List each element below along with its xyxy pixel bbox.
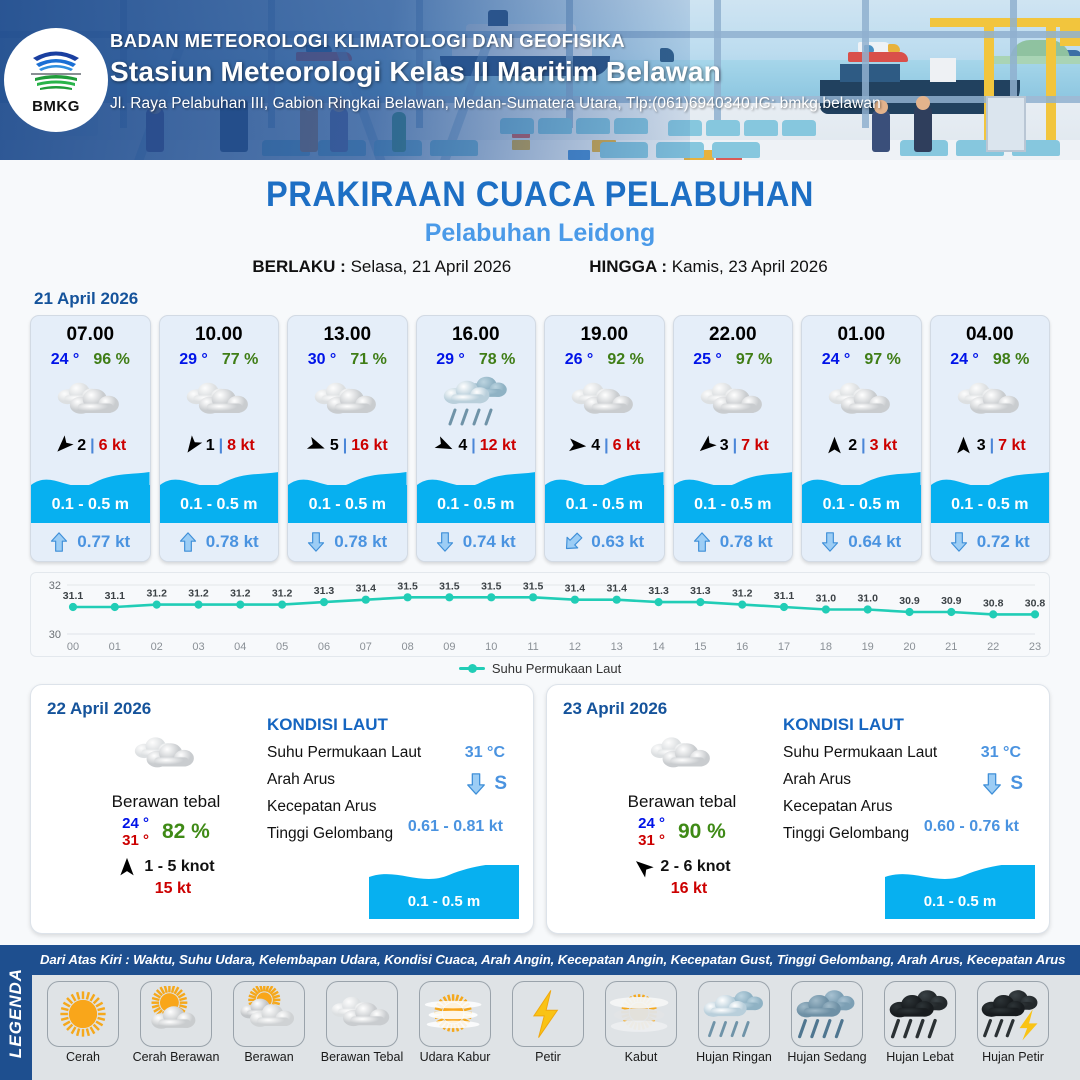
current-row: 0.77 kt bbox=[31, 523, 150, 561]
summary-humidity: 82 % bbox=[162, 820, 210, 844]
wave-height-row: Tinggi Gelombang bbox=[783, 825, 1035, 843]
hourly-forecast-card: 19.00 26 ° 92 % 4 | 6 kt 0.1 - 0.5 m bbox=[544, 315, 665, 562]
legend-icon-row: Cerah Cerah Berawan Berawan Berawan Teba… bbox=[32, 975, 1080, 1080]
svg-text:31.5: 31.5 bbox=[397, 580, 418, 592]
wave-height: 0.1 - 0.5 m bbox=[288, 496, 407, 514]
berawan-tebal-icon bbox=[329, 986, 395, 1042]
sst-value: 31 °C bbox=[981, 744, 1021, 762]
sst-row: Suhu Permukaan Laut 31 °C bbox=[783, 744, 1035, 762]
summary-wind-row: 2 - 6 knot bbox=[587, 857, 777, 877]
svg-text:31.1: 31.1 bbox=[105, 590, 126, 602]
gust-speed: 6 kt bbox=[613, 437, 641, 455]
wave-shape bbox=[417, 471, 536, 497]
summary-wave-value: 0.1 - 0.5 m bbox=[369, 893, 519, 910]
legend-item-label: Cerah bbox=[38, 1050, 128, 1064]
humidity: 97 % bbox=[864, 351, 900, 369]
berawan-tebal-icon bbox=[53, 372, 127, 430]
agency-name: BADAN METEOROLOGI KLIMATOLOGI DAN GEOFIS… bbox=[110, 30, 1060, 52]
svg-text:14: 14 bbox=[652, 641, 664, 653]
humidity: 97 % bbox=[736, 351, 772, 369]
hourly-forecast-card: 04.00 24 ° 98 % 3 | 7 kt 0.1 - 0.5 m bbox=[930, 315, 1051, 562]
current-direction-value: S bbox=[494, 773, 507, 795]
wave-shape bbox=[674, 471, 793, 497]
air-temperature: 24 ° bbox=[822, 351, 851, 369]
berawan-tebal-icon bbox=[824, 372, 898, 430]
legend-item: Hujan Sedang bbox=[782, 981, 872, 1064]
svg-text:31.4: 31.4 bbox=[565, 583, 586, 595]
summary-wave-block: 0.1 - 0.5 m bbox=[369, 865, 519, 919]
svg-text:31.5: 31.5 bbox=[481, 580, 502, 592]
wind-direction-arrow-icon bbox=[117, 857, 137, 877]
forecast-time: 07.00 bbox=[31, 316, 150, 346]
hourly-forecast-card: 22.00 25 ° 97 % 3 | 7 kt 0.1 - 0.5 m bbox=[673, 315, 794, 562]
wave-height-block: 0.1 - 0.5 m bbox=[417, 461, 536, 523]
page-header: BMKG BADAN METEOROLOGI KLIMATOLOGI DAN G… bbox=[0, 0, 1080, 160]
svg-text:18: 18 bbox=[820, 641, 832, 653]
legend-item: Hujan Petir bbox=[968, 981, 1058, 1064]
legend-item-label: Berawan bbox=[224, 1050, 314, 1064]
svg-text:30.8: 30.8 bbox=[1025, 597, 1046, 609]
sst-label: Suhu Permukaan Laut bbox=[783, 744, 937, 761]
humidity: 71 % bbox=[350, 351, 386, 369]
valid-until: HINGGA : Kamis, 23 April 2026 bbox=[589, 257, 827, 277]
forecast-time: 22.00 bbox=[674, 316, 793, 346]
wind-separator: | bbox=[861, 437, 865, 455]
wave-shape bbox=[369, 865, 519, 887]
hourly-day-label: 21 April 2026 bbox=[34, 289, 1080, 309]
weather-condition-icon bbox=[160, 372, 279, 430]
wave-height: 0.1 - 0.5 m bbox=[31, 496, 150, 514]
humidity: 77 % bbox=[222, 351, 258, 369]
current-speed-label: Kecepatan Arus bbox=[267, 798, 376, 815]
weather-condition-text: Berawan tebal bbox=[587, 792, 777, 812]
wave-height-block: 0.1 - 0.5 m bbox=[160, 461, 279, 523]
legend-item: Cerah Berawan bbox=[131, 981, 221, 1064]
summary-wind-speed: 2 - 6 knot bbox=[660, 858, 730, 876]
legend-item: Petir bbox=[503, 981, 593, 1064]
wave-height: 0.1 - 0.5 m bbox=[545, 496, 664, 514]
wave-height: 0.1 - 0.5 m bbox=[931, 496, 1050, 514]
humidity: 98 % bbox=[993, 351, 1029, 369]
gust-speed: 7 kt bbox=[741, 437, 769, 455]
forecast-time: 16.00 bbox=[417, 316, 536, 346]
air-temperature: 25 ° bbox=[693, 351, 722, 369]
cerah-icon bbox=[50, 986, 116, 1042]
air-temperature: 29 ° bbox=[436, 351, 465, 369]
svg-text:31.3: 31.3 bbox=[314, 585, 335, 597]
legend-item: Hujan Ringan bbox=[689, 981, 779, 1064]
current-direction-label: Arah Arus bbox=[267, 771, 335, 788]
wave-shape bbox=[885, 865, 1035, 887]
hujan-ringan-icon bbox=[439, 372, 513, 430]
current-direction-label: Arah Arus bbox=[783, 771, 851, 788]
bmkg-logo: BMKG bbox=[4, 28, 108, 132]
hujan-ringan-icon bbox=[701, 986, 767, 1042]
wind-separator: | bbox=[990, 437, 994, 455]
svg-text:06: 06 bbox=[318, 641, 330, 653]
berawan-tebal-icon bbox=[696, 372, 770, 430]
weather-condition-icon bbox=[417, 372, 536, 430]
forecast-title-block: PRAKIRAAN CUACA PELABUHAN Pelabuhan Leid… bbox=[0, 160, 1080, 277]
gust-speed: 3 kt bbox=[870, 437, 898, 455]
station-name: Stasiun Meteorologi Kelas II Maritim Bel… bbox=[110, 56, 1060, 88]
wave-shape bbox=[802, 471, 921, 497]
wave-height-block: 0.1 - 0.5 m bbox=[674, 461, 793, 523]
weather-condition-icon bbox=[931, 372, 1050, 430]
wind-row: 2 | 3 kt bbox=[802, 436, 921, 461]
valid-from: BERLAKU : Selasa, 21 April 2026 bbox=[252, 257, 511, 277]
legend-item-label: Udara Kabur bbox=[410, 1050, 500, 1064]
valid-from-value: Selasa, 21 April 2026 bbox=[351, 257, 512, 276]
svg-text:31.5: 31.5 bbox=[523, 580, 544, 592]
sst-legend-label: Suhu Permukaan Laut bbox=[492, 661, 621, 676]
svg-text:12: 12 bbox=[569, 641, 581, 653]
valid-until-value: Kamis, 23 April 2026 bbox=[672, 257, 828, 276]
svg-text:23: 23 bbox=[1029, 641, 1041, 653]
svg-text:31.4: 31.4 bbox=[606, 583, 627, 595]
wind-speed: 5 bbox=[330, 437, 339, 455]
wave-height-label: Tinggi Gelombang bbox=[267, 825, 393, 842]
current-speed-label: Kecepatan Arus bbox=[783, 798, 892, 815]
wave-height: 0.1 - 0.5 m bbox=[160, 496, 279, 514]
svg-text:31.0: 31.0 bbox=[857, 593, 878, 605]
page-title: PRAKIRAAN CUACA PELABUHAN bbox=[38, 175, 1042, 215]
wave-shape bbox=[160, 471, 279, 497]
current-direction-value: S bbox=[1010, 773, 1023, 795]
legend-item-label: Hujan Ringan bbox=[689, 1050, 779, 1064]
legend-tab-label: LEGENDA bbox=[6, 967, 26, 1057]
current-direction-arrow-icon bbox=[982, 773, 1002, 795]
svg-text:31.2: 31.2 bbox=[230, 588, 251, 600]
wave-height-row: Tinggi Gelombang bbox=[267, 825, 519, 843]
current-direction-row: Arah Arus S bbox=[783, 771, 1035, 789]
sst-chart-svg: 323031.10031.10131.20231.20331.20431.205… bbox=[31, 573, 1049, 656]
svg-text:11: 11 bbox=[527, 641, 538, 653]
gust-speed: 16 kt bbox=[351, 437, 387, 455]
current-direction-arrow-icon bbox=[560, 529, 587, 556]
legend-item: Kabut bbox=[596, 981, 686, 1064]
bmkg-logo-text: BMKG bbox=[32, 98, 80, 115]
valid-until-label: HINGGA : bbox=[589, 257, 667, 276]
svg-text:09: 09 bbox=[443, 641, 455, 653]
berawan-tebal-icon bbox=[953, 372, 1027, 430]
current-speed: 0.78 kt bbox=[334, 532, 387, 552]
current-speed-row: Kecepatan Arus 0.60 - 0.76 kt bbox=[783, 798, 1035, 816]
wind-direction-arrow-icon bbox=[179, 432, 205, 458]
wind-row: 2 | 6 kt bbox=[31, 436, 150, 461]
sst-label: Suhu Permukaan Laut bbox=[267, 744, 421, 761]
legend-item-label: Cerah Berawan bbox=[131, 1050, 221, 1064]
svg-text:30.9: 30.9 bbox=[899, 595, 920, 607]
gust-speed: 6 kt bbox=[99, 437, 127, 455]
wind-speed: 3 bbox=[720, 437, 729, 455]
valid-from-label: BERLAKU : bbox=[252, 257, 346, 276]
wind-row: 4 | 6 kt bbox=[545, 436, 664, 461]
sst-legend-marker bbox=[459, 667, 485, 670]
gust-speed: 12 kt bbox=[480, 437, 516, 455]
wind-direction-arrow-icon bbox=[567, 435, 588, 456]
air-temperature: 30 ° bbox=[308, 351, 337, 369]
temp-min: 24 ° bbox=[122, 815, 149, 832]
wind-speed: 2 bbox=[848, 437, 857, 455]
sea-condition-title: KONDISI LAUT bbox=[783, 715, 1035, 735]
summary-weather-icon bbox=[587, 727, 777, 788]
sst-value: 31 °C bbox=[465, 744, 505, 762]
wave-shape bbox=[545, 471, 664, 497]
wind-speed: 3 bbox=[977, 437, 986, 455]
daily-summary-card: 22 April 2026 Berawan tebal 24 ° 31 ° 82… bbox=[30, 684, 534, 934]
current-row: 0.78 kt bbox=[288, 523, 407, 561]
current-row: 0.64 kt bbox=[802, 523, 921, 561]
legend-tab: LEGENDA bbox=[0, 945, 32, 1080]
wind-speed: 4 bbox=[458, 437, 467, 455]
wind-direction-arrow-icon bbox=[50, 432, 77, 459]
svg-text:22: 22 bbox=[987, 641, 999, 653]
legend-icon-box bbox=[326, 981, 398, 1047]
forecast-time: 01.00 bbox=[802, 316, 921, 346]
legend-item: Berawan bbox=[224, 981, 314, 1064]
air-temperature: 26 ° bbox=[565, 351, 594, 369]
current-speed: 0.78 kt bbox=[206, 532, 259, 552]
legend-item: Berawan Tebal bbox=[317, 981, 407, 1064]
hourly-forecast-card: 13.00 30 ° 71 % 5 | 16 kt 0.1 - 0.5 m bbox=[287, 315, 408, 562]
svg-text:30.9: 30.9 bbox=[941, 595, 962, 607]
cerah-berawan-icon bbox=[143, 986, 209, 1042]
current-direction-row: Arah Arus S bbox=[267, 771, 519, 789]
legend-icon-box bbox=[698, 981, 770, 1047]
daily-summary-row: 22 April 2026 Berawan tebal 24 ° 31 ° 82… bbox=[0, 676, 1080, 934]
current-direction-arrow-icon bbox=[693, 532, 711, 552]
current-direction-arrow-icon bbox=[436, 532, 454, 552]
legend-icon-box bbox=[419, 981, 491, 1047]
current-direction-arrow-icon bbox=[950, 532, 968, 552]
wave-height-label: Tinggi Gelombang bbox=[783, 825, 909, 842]
svg-text:31.4: 31.4 bbox=[356, 583, 377, 595]
wave-height-block: 0.1 - 0.5 m bbox=[802, 461, 921, 523]
wind-separator: | bbox=[733, 437, 737, 455]
hujan-lebat-icon bbox=[887, 986, 953, 1042]
weather-condition-icon bbox=[31, 372, 150, 430]
forecast-time: 19.00 bbox=[545, 316, 664, 346]
forecast-time: 10.00 bbox=[160, 316, 279, 346]
wind-separator: | bbox=[90, 437, 94, 455]
summary-wave-block: 0.1 - 0.5 m bbox=[885, 865, 1035, 919]
legend-item-label: Kabut bbox=[596, 1050, 686, 1064]
wind-row: 5 | 16 kt bbox=[288, 436, 407, 461]
wind-row: 4 | 12 kt bbox=[417, 436, 536, 461]
kabut-icon bbox=[608, 986, 674, 1042]
current-row: 0.72 kt bbox=[931, 523, 1050, 561]
sst-row: Suhu Permukaan Laut 31 °C bbox=[267, 744, 519, 762]
svg-text:31.2: 31.2 bbox=[272, 588, 293, 600]
wind-direction-arrow-icon bbox=[825, 436, 844, 455]
wind-row: 3 | 7 kt bbox=[931, 436, 1050, 461]
humidity: 92 % bbox=[607, 351, 643, 369]
svg-text:08: 08 bbox=[401, 641, 413, 653]
current-direction-arrow-icon bbox=[50, 532, 68, 552]
wind-row: 3 | 7 kt bbox=[674, 436, 793, 461]
svg-text:20: 20 bbox=[903, 641, 915, 653]
hujan-sedang-icon bbox=[794, 986, 860, 1042]
current-row: 0.78 kt bbox=[160, 523, 279, 561]
current-speed-row: Kecepatan Arus 0.61 - 0.81 kt bbox=[267, 798, 519, 816]
wave-shape bbox=[288, 471, 407, 497]
current-speed: 0.78 kt bbox=[720, 532, 773, 552]
hourly-forecast-row: 07.00 24 ° 96 % 2 | 6 kt 0.1 - 0.5 m bbox=[0, 315, 1080, 562]
wave-height-block: 0.1 - 0.5 m bbox=[288, 461, 407, 523]
current-direction-arrow-icon bbox=[466, 773, 486, 795]
svg-text:31.3: 31.3 bbox=[648, 585, 669, 597]
port-name: Pelabuhan Leidong bbox=[0, 219, 1080, 248]
berawan-tebal-icon bbox=[127, 727, 205, 783]
wave-height-block: 0.1 - 0.5 m bbox=[545, 461, 664, 523]
wind-direction-arrow-icon bbox=[954, 436, 973, 455]
sst-chart: 323031.10031.10131.20231.20331.20431.205… bbox=[30, 572, 1050, 657]
air-temperature: 24 ° bbox=[950, 351, 979, 369]
legend-item-label: Hujan Sedang bbox=[782, 1050, 872, 1064]
legend-item: Hujan Lebat bbox=[875, 981, 965, 1064]
weather-condition-icon bbox=[545, 372, 664, 430]
wave-height: 0.1 - 0.5 m bbox=[417, 496, 536, 514]
current-direction-arrow-icon bbox=[307, 532, 325, 552]
berawan-tebal-icon bbox=[310, 372, 384, 430]
svg-text:02: 02 bbox=[151, 641, 163, 653]
berawan-tebal-icon bbox=[182, 372, 256, 430]
svg-text:10: 10 bbox=[485, 641, 497, 653]
wave-height-block: 0.1 - 0.5 m bbox=[31, 461, 150, 523]
svg-text:30: 30 bbox=[49, 629, 61, 641]
air-temperature: 29 ° bbox=[179, 351, 208, 369]
svg-text:31.1: 31.1 bbox=[63, 590, 84, 602]
legend-icon-box bbox=[140, 981, 212, 1047]
legend-icon-box bbox=[977, 981, 1049, 1047]
svg-text:31.2: 31.2 bbox=[188, 588, 209, 600]
svg-text:21: 21 bbox=[945, 641, 957, 653]
current-row: 0.63 kt bbox=[545, 523, 664, 561]
wave-shape bbox=[931, 471, 1050, 497]
legend-footer: LEGENDA Dari Atas Kiri : Waktu, Suhu Uda… bbox=[0, 945, 1080, 1080]
svg-text:31.5: 31.5 bbox=[439, 580, 460, 592]
current-speed: 0.77 kt bbox=[77, 532, 130, 552]
summary-wind-row: 1 - 5 knot bbox=[71, 857, 261, 877]
legend-icon-box bbox=[605, 981, 677, 1047]
validity-row: BERLAKU : Selasa, 21 April 2026 HINGGA :… bbox=[0, 257, 1080, 277]
summary-weather-icon bbox=[71, 727, 261, 788]
svg-text:15: 15 bbox=[694, 641, 706, 653]
legend-icon-box bbox=[791, 981, 863, 1047]
legend-note: Dari Atas Kiri : Waktu, Suhu Udara, Kele… bbox=[40, 952, 1072, 967]
temp-max: 31 ° bbox=[122, 832, 149, 849]
svg-text:31.0: 31.0 bbox=[816, 593, 837, 605]
wave-height: 0.1 - 0.5 m bbox=[802, 496, 921, 514]
svg-text:31.2: 31.2 bbox=[146, 588, 167, 600]
daily-summary-card: 23 April 2026 Berawan tebal 24 ° 31 ° 90… bbox=[546, 684, 1050, 934]
wind-speed: 1 bbox=[206, 437, 215, 455]
wave-shape bbox=[31, 471, 150, 497]
berawan-icon bbox=[236, 986, 302, 1042]
bmkg-logo-mark bbox=[25, 45, 87, 97]
berawan-tebal-icon bbox=[567, 372, 641, 430]
current-direction-arrow-icon bbox=[179, 532, 197, 552]
wind-direction-arrow-icon bbox=[432, 433, 457, 458]
svg-text:03: 03 bbox=[192, 641, 204, 653]
svg-text:07: 07 bbox=[360, 641, 372, 653]
current-speed: 0.64 kt bbox=[848, 532, 901, 552]
legend-item-label: Berawan Tebal bbox=[317, 1050, 407, 1064]
wind-direction-arrow-icon bbox=[304, 433, 328, 457]
svg-text:13: 13 bbox=[611, 641, 623, 653]
gust-speed: 7 kt bbox=[998, 437, 1026, 455]
weather-condition-icon bbox=[674, 372, 793, 430]
sst-chart-legend: Suhu Permukaan Laut bbox=[0, 661, 1080, 676]
station-address: Jl. Raya Pelabuhan III, Gabion Ringkai B… bbox=[110, 95, 1060, 113]
forecast-time: 13.00 bbox=[288, 316, 407, 346]
weather-condition-icon bbox=[288, 372, 407, 430]
temp-max: 31 ° bbox=[638, 832, 665, 849]
svg-text:31.3: 31.3 bbox=[690, 585, 711, 597]
hourly-forecast-card: 10.00 29 ° 77 % 1 | 8 kt 0.1 - 0.5 m bbox=[159, 315, 280, 562]
wind-direction-arrow-icon bbox=[629, 852, 657, 880]
weather-condition-icon bbox=[802, 372, 921, 430]
svg-text:01: 01 bbox=[109, 641, 121, 653]
wind-speed: 4 bbox=[591, 437, 600, 455]
current-row: 0.74 kt bbox=[417, 523, 536, 561]
legend-item-label: Hujan Petir bbox=[968, 1050, 1058, 1064]
wave-height: 0.1 - 0.5 m bbox=[674, 496, 793, 514]
svg-text:16: 16 bbox=[736, 641, 748, 653]
current-speed: 0.74 kt bbox=[463, 532, 516, 552]
weather-condition-text: Berawan tebal bbox=[71, 792, 261, 812]
wind-speed: 2 bbox=[77, 437, 86, 455]
hourly-forecast-card: 16.00 29 ° 78 % 4 | 12 kt bbox=[416, 315, 537, 562]
temp-min: 24 ° bbox=[638, 815, 665, 832]
summary-gust: 15 kt bbox=[85, 880, 261, 898]
gust-speed: 8 kt bbox=[227, 437, 255, 455]
wind-row: 1 | 8 kt bbox=[160, 436, 279, 461]
summary-humidity: 90 % bbox=[678, 820, 726, 844]
humidity: 78 % bbox=[479, 351, 515, 369]
humidity: 96 % bbox=[93, 351, 129, 369]
svg-text:17: 17 bbox=[778, 641, 790, 653]
legend-icon-box bbox=[233, 981, 305, 1047]
svg-text:05: 05 bbox=[276, 641, 288, 653]
current-speed: 0.72 kt bbox=[977, 532, 1030, 552]
summary-wind-speed: 1 - 5 knot bbox=[144, 858, 214, 876]
hourly-forecast-card: 07.00 24 ° 96 % 2 | 6 kt 0.1 - 0.5 m bbox=[30, 315, 151, 562]
sea-condition-title: KONDISI LAUT bbox=[267, 715, 519, 735]
current-direction-arrow-icon bbox=[821, 532, 839, 552]
legend-icon-box bbox=[884, 981, 956, 1047]
legend-icon-box bbox=[512, 981, 584, 1047]
air-temperature: 24 ° bbox=[51, 351, 80, 369]
svg-text:30.8: 30.8 bbox=[983, 597, 1004, 609]
svg-text:19: 19 bbox=[862, 641, 874, 653]
svg-text:31.1: 31.1 bbox=[774, 590, 795, 602]
hujan-petir-icon bbox=[980, 986, 1046, 1042]
svg-text:31.2: 31.2 bbox=[732, 588, 753, 600]
wind-separator: | bbox=[343, 437, 347, 455]
svg-text:04: 04 bbox=[234, 641, 246, 653]
legend-item-label: Hujan Lebat bbox=[875, 1050, 965, 1064]
wave-height-block: 0.1 - 0.5 m bbox=[931, 461, 1050, 523]
legend-item: Cerah bbox=[38, 981, 128, 1064]
summary-wave-value: 0.1 - 0.5 m bbox=[885, 893, 1035, 910]
hourly-forecast-card: 01.00 24 ° 97 % 2 | 3 kt 0.1 - 0.5 m bbox=[801, 315, 922, 562]
wind-separator: | bbox=[471, 437, 475, 455]
summary-gust: 16 kt bbox=[601, 880, 777, 898]
legend-item: Udara Kabur bbox=[410, 981, 500, 1064]
current-speed: 0.63 kt bbox=[591, 532, 644, 552]
